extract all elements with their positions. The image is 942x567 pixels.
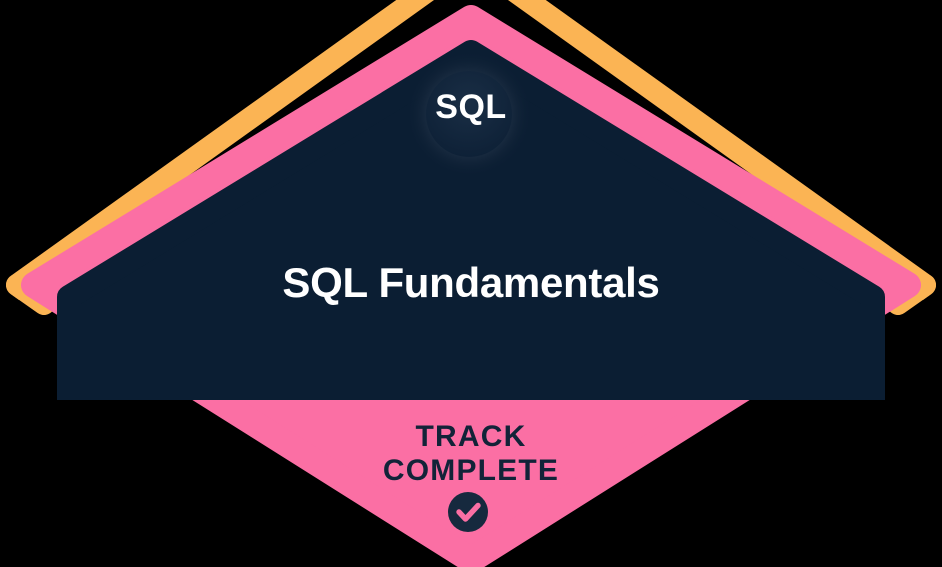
sql-chip-icon — [406, 51, 532, 177]
check-icon — [448, 492, 488, 532]
badge-graphic — [0, 0, 942, 567]
track-badge-card[interactable]: SQL SQL Fundamentals TRACK COMPLETE — [0, 0, 942, 567]
